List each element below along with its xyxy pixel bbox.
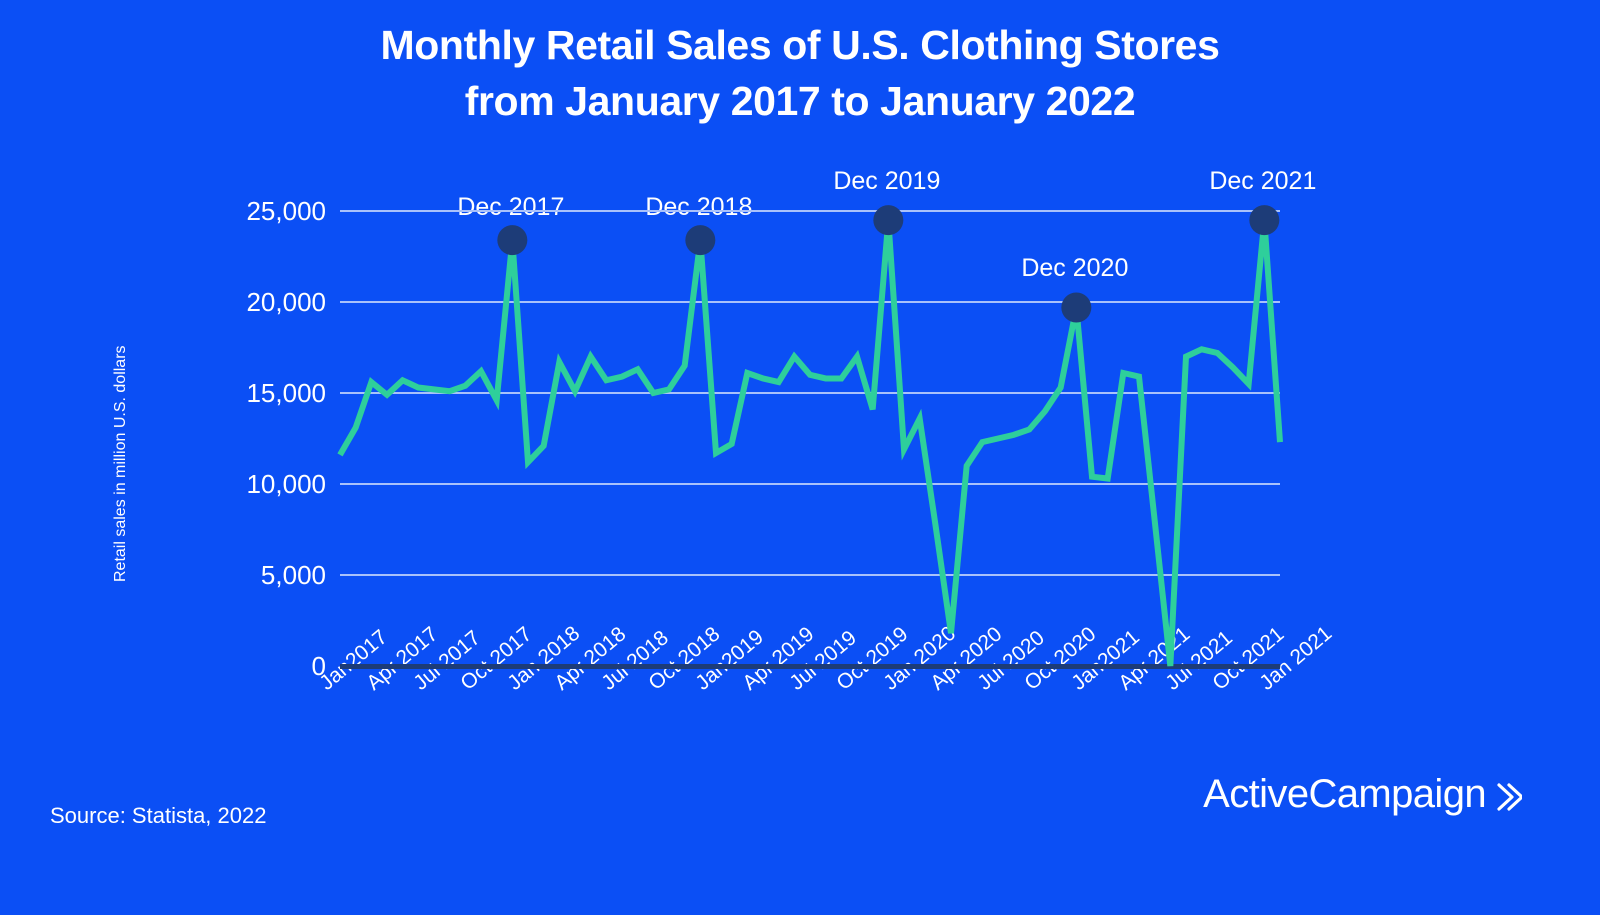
brand-logo: ActiveCampaign [1203, 772, 1522, 816]
y-axis-tick-label: 5,000 [106, 562, 326, 588]
y-axis-tick-label: 10,000 [106, 471, 326, 497]
series-line-path [340, 220, 1280, 666]
y-axis-tick-label: 20,000 [106, 289, 326, 315]
annotation-label: Dec 2019 [833, 168, 940, 194]
retail-sales-line-series [340, 211, 1280, 671]
marker-dot [873, 205, 903, 235]
annotation-label: Dec 2021 [1209, 168, 1316, 194]
brand-logo-text: ActiveCampaign [1203, 772, 1486, 816]
y-axis-tick-label: 15,000 [106, 380, 326, 406]
marker-dot [1249, 205, 1279, 235]
page-title: Monthly Retail Sales of U.S. Clothing St… [0, 18, 1600, 130]
page-title-line-2: from January 2017 to January 2022 [0, 74, 1600, 130]
marker-dot [497, 225, 527, 255]
source-note: Source: Statista, 2022 [50, 804, 266, 828]
marker-dot [1061, 292, 1091, 322]
double-chevron-right-icon [1496, 778, 1522, 810]
y-axis-tick-label: 0 [106, 653, 326, 679]
y-axis-tick-label: 25,000 [106, 198, 326, 224]
plot-area [340, 211, 1280, 666]
chart-infographic: Monthly Retail Sales of U.S. Clothing St… [0, 0, 1600, 915]
page-title-line-1: Monthly Retail Sales of U.S. Clothing St… [0, 18, 1600, 74]
marker-dot [685, 225, 715, 255]
